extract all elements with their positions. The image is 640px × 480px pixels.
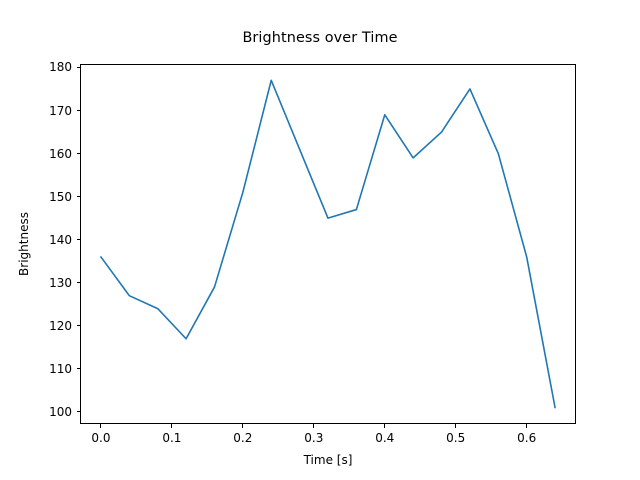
y-tick-label: 140	[36, 233, 72, 247]
y-tick-label: 130	[36, 276, 72, 290]
y-tick-mark	[77, 282, 81, 283]
y-tick-label: 120	[36, 319, 72, 333]
y-tick-mark	[77, 368, 81, 369]
y-tick-label: 170	[36, 104, 72, 118]
y-tick-label: 150	[36, 190, 72, 204]
chart-title: Brightness over Time	[0, 30, 640, 46]
brightness-line-series	[101, 80, 555, 407]
figure-canvas: Brightness over Time 1001101201301401501…	[0, 0, 640, 480]
plot-area	[80, 64, 576, 424]
x-tick-mark	[526, 424, 527, 428]
y-tick-label: 160	[36, 147, 72, 161]
y-tick-mark	[77, 196, 81, 197]
y-axis-label-text: Brightness	[17, 196, 31, 292]
x-tick-label: 0.0	[91, 431, 110, 445]
x-tick-label: 0.5	[446, 431, 465, 445]
y-tick-mark	[77, 67, 81, 68]
x-tick-label: 0.1	[162, 431, 181, 445]
y-tick-label: 110	[36, 362, 72, 376]
x-tick-label: 0.3	[304, 431, 323, 445]
x-tick-mark	[455, 424, 456, 428]
x-tick-mark	[100, 424, 101, 428]
y-tick-mark	[77, 411, 81, 412]
y-tick-mark	[77, 110, 81, 111]
x-tick-mark	[313, 424, 314, 428]
y-tick-mark	[77, 153, 81, 154]
x-tick-label: 0.6	[517, 431, 536, 445]
x-tick-mark	[171, 424, 172, 428]
x-tick-label: 0.4	[375, 431, 394, 445]
y-tick-label: 180	[36, 60, 72, 74]
x-tick-mark	[242, 424, 243, 428]
y-tick-label: 100	[36, 405, 72, 419]
x-tick-mark	[384, 424, 385, 428]
y-tick-mark	[77, 239, 81, 240]
x-tick-label: 0.2	[233, 431, 252, 445]
y-tick-mark	[77, 325, 81, 326]
x-axis-label: Time [s]	[80, 453, 576, 467]
